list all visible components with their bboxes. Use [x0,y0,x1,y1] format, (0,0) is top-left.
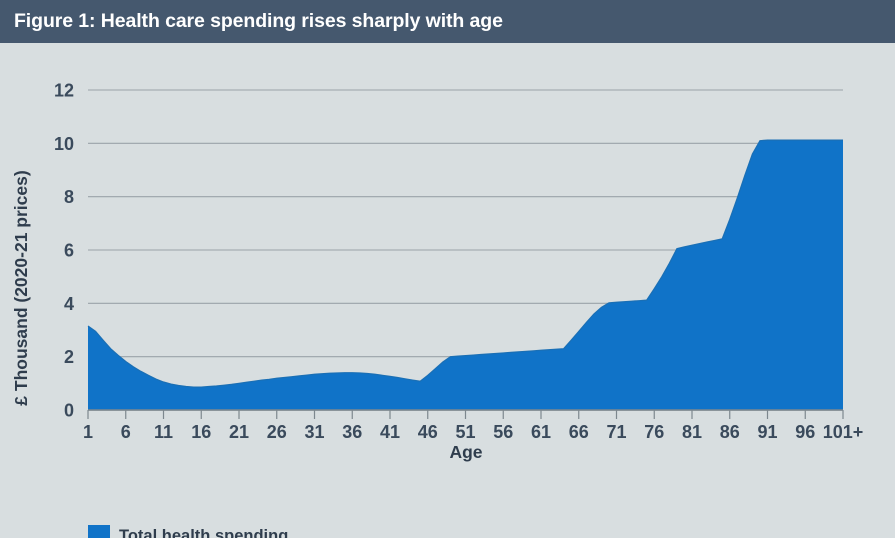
y-axis-tick-label: 0 [64,401,74,421]
x-axis-tick-label: 36 [342,422,362,442]
y-axis-tick-labels: 024681012 [54,81,74,421]
x-axis-tick-label: 61 [531,422,551,442]
x-axis-tick-label: 51 [455,422,475,442]
y-axis-tick-label: 4 [64,294,74,314]
x-axis-title: Age [449,442,482,462]
legend-label-total-health-spending: Total health spending [119,527,288,538]
x-axis-tick-label: 41 [380,422,400,442]
x-axis-tick-label: 91 [757,422,777,442]
x-axis-tick-label: 31 [304,422,324,442]
y-axis-tick-label: 10 [54,134,74,154]
x-axis-tick-label: 66 [569,422,589,442]
x-axis-tick-label: 96 [795,422,815,442]
figure-container: Figure 1: Health care spending rises sha… [0,0,895,538]
x-axis-tick-label: 26 [267,422,287,442]
x-axis-tick-label: 16 [191,422,211,442]
y-axis-tick-label: 12 [54,81,74,101]
x-axis-tick-label: 6 [121,422,131,442]
x-axis-tick-label: 76 [644,422,664,442]
x-axis-tick-label: 101+ [823,422,864,442]
x-axis-tick-label: 1 [83,422,93,442]
chart-area: 024681012 161116212631364146515661667176… [0,43,895,538]
y-axis-tick-label: 2 [64,347,74,367]
legend-swatch-total-health-spending [88,525,110,538]
x-axis-tick-label: 56 [493,422,513,442]
page-title: Figure 1: Health care spending rises sha… [0,10,503,33]
x-axis-tick-label: 46 [418,422,438,442]
y-axis-title: £ Thousand (2020-21 prices) [11,170,31,405]
y-axis-tick-label: 8 [64,187,74,207]
area-chart-plot: 024681012 161116212631364146515661667176… [0,43,895,463]
x-axis-tick-label: 71 [606,422,626,442]
x-axis-tick-labels: 1611162126313641465156616671768186919610… [83,422,863,442]
x-axis-tick-label: 21 [229,422,249,442]
x-axis-tick-label: 81 [682,422,702,442]
x-axis-tick-label: 86 [720,422,740,442]
figure-title-bar: Figure 1: Health care spending rises sha… [0,0,895,43]
x-axis-tick-label: 11 [154,422,173,442]
area-fill-path [88,140,843,410]
y-axis-tick-label: 6 [64,241,74,261]
chart-legend: Total health spending [88,525,288,538]
series-total-health-spending [88,140,843,410]
x-axis [88,410,843,419]
